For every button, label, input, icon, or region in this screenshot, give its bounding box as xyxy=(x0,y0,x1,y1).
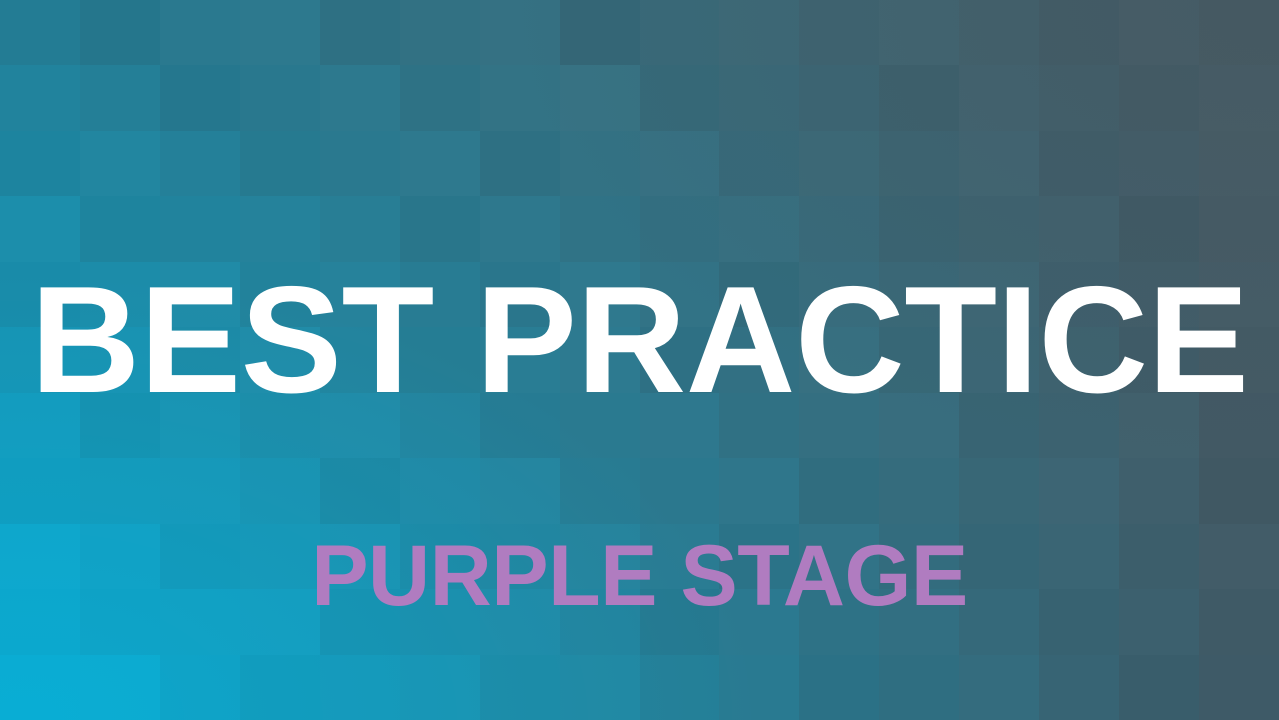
presentation-slide: BEST PRACTICE PURPLE STAGE xyxy=(0,0,1279,720)
slide-content: BEST PRACTICE PURPLE STAGE xyxy=(0,0,1279,720)
slide-subheadline: PURPLE STAGE xyxy=(0,533,1279,619)
slide-headline: BEST PRACTICE xyxy=(0,264,1279,416)
